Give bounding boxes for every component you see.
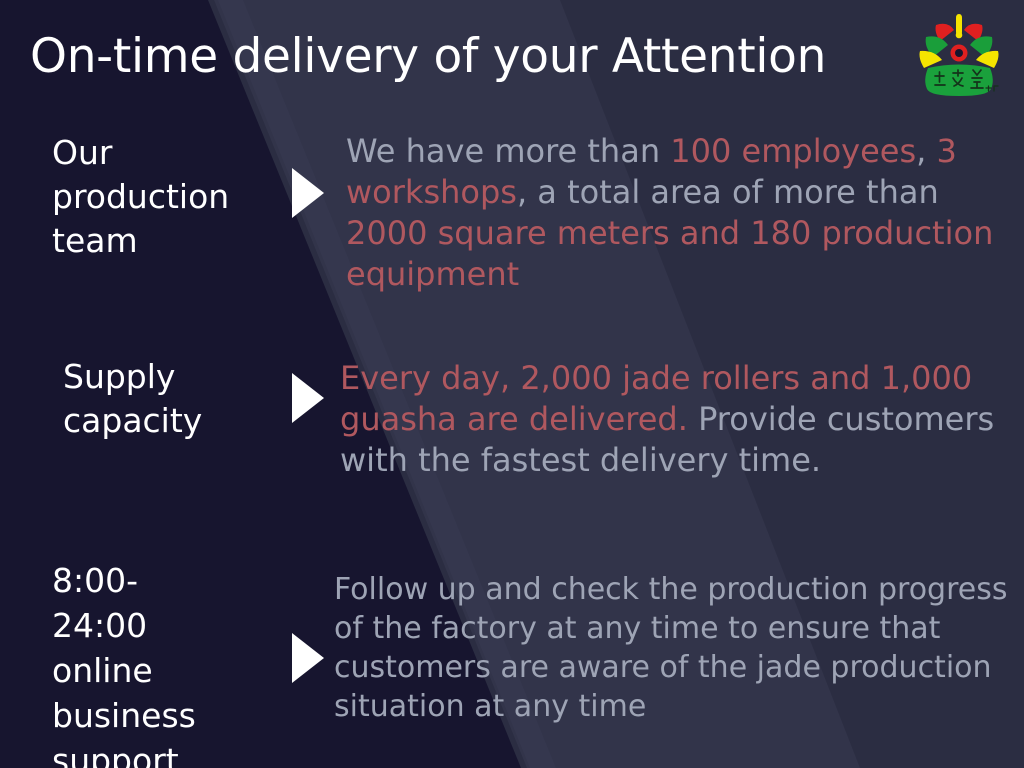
- body-segment: , a total area of more than: [517, 173, 939, 211]
- row-body-supply-capacity: Every day, 2,000 jade rollers and 1,000 …: [340, 358, 1012, 481]
- body-segment: We have more than: [346, 132, 670, 170]
- body-segment: Follow up and check the production progr…: [334, 572, 1007, 724]
- row-label-online-support: 8:00-24:00 online business support: [52, 558, 196, 768]
- row-body-production-team: We have more than 100 employees, 3 works…: [346, 131, 1006, 295]
- row-body-online-support: Follow up and check the production progr…: [334, 570, 1010, 726]
- play-triangle-icon: [292, 633, 324, 683]
- row-label-production-team: Our production team: [52, 131, 229, 263]
- slide-canvas: On-time delivery of your Attention: [0, 0, 1024, 768]
- row-label-supply-capacity: Supply capacity: [63, 355, 202, 443]
- body-segment: ,: [916, 132, 936, 170]
- play-triangle-icon: [292, 168, 324, 218]
- page-title: On-time delivery of your Attention: [30, 26, 826, 88]
- play-triangle-icon: [292, 373, 324, 423]
- body-segment-highlight: 2000 square meters and 180 production eq…: [346, 214, 993, 293]
- body-segment-highlight: 100 employees: [670, 132, 916, 170]
- jade-factory-logo-icon: [912, 6, 1008, 102]
- company-logo: [912, 6, 1008, 102]
